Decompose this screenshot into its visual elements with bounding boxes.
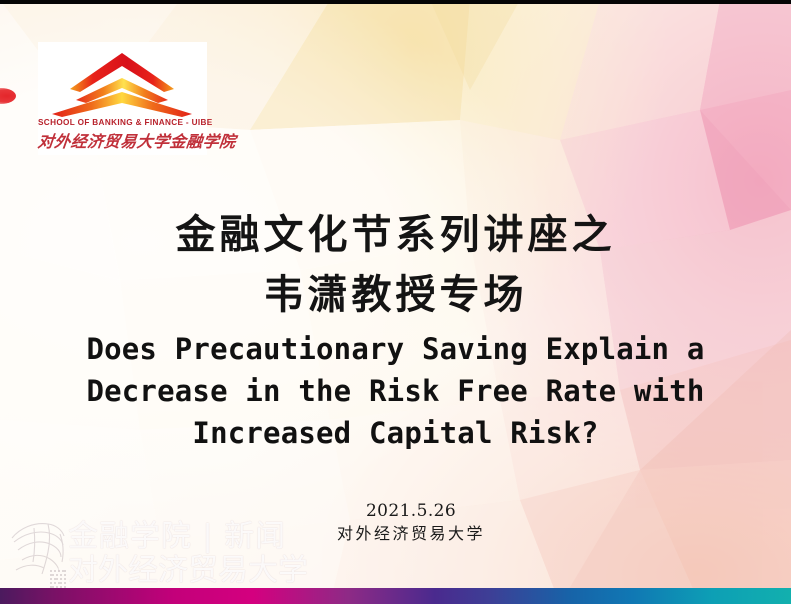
presentation-slide: SCHOOL OF BANKING & FINANCE - UIBE 对外经济贸… xyxy=(0,0,791,604)
event-organization: 对外经济贸易大学 xyxy=(276,522,546,546)
chinese-title-line-1: 金融文化节系列讲座之 xyxy=(0,202,791,260)
chinese-title-line-2: 韦潇教授专场 xyxy=(0,262,791,320)
english-title-line-3: Increased Capital Risk? xyxy=(0,412,791,454)
top-black-edge xyxy=(0,0,791,4)
watermark-line-2: 对外经济贸易大学 xyxy=(68,554,308,588)
english-title-line-2: Decrease in the Risk Free Rate with xyxy=(0,370,791,412)
channel-watermark: 金融学院 | 新闻 对外经济贸易大学 xyxy=(68,520,308,588)
english-title-line-1: Does Precautionary Saving Explain a xyxy=(0,328,791,370)
school-logo: SCHOOL OF BANKING & FINANCE - UIBE 对外经济贸… xyxy=(38,42,207,155)
event-date: 2021.5.26 xyxy=(276,500,546,522)
english-title: Does Precautionary Saving Explain a Decr… xyxy=(0,328,791,454)
event-info: 2021.5.26 对外经济贸易大学 xyxy=(276,500,546,546)
mountain-chevron-logo-icon xyxy=(46,48,199,120)
logo-chinese-text: 对外经济贸易大学金融学院 xyxy=(37,128,209,152)
bottom-gradient-bar xyxy=(0,588,791,604)
watermark-line-1: 金融学院 | 新闻 xyxy=(68,520,308,554)
logo-english-text: SCHOOL OF BANKING & FINANCE - UIBE xyxy=(38,118,207,127)
university-emblem-watermark-icon xyxy=(4,512,74,592)
